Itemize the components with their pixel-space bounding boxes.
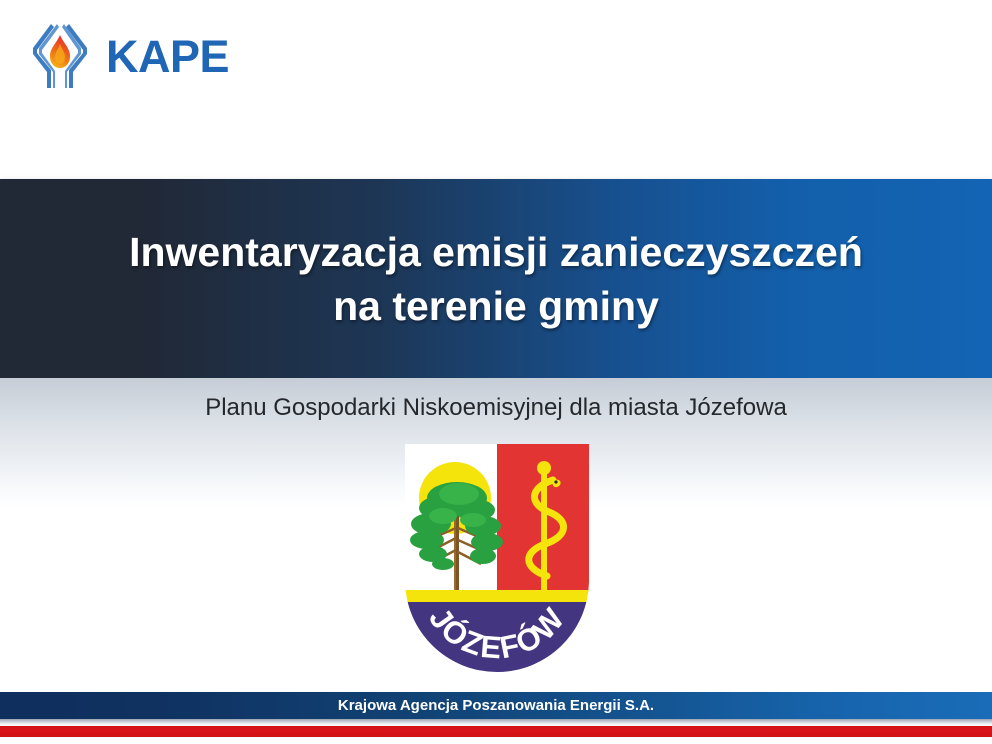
title-line-1: Inwentaryzacja emisji zanieczyszczeń	[129, 225, 863, 279]
coat-of-arms-graphic: JÓZEFÓW	[403, 442, 591, 674]
title-banner: Inwentaryzacja emisji zanieczyszczeń na …	[0, 179, 992, 378]
kape-logo: KAPE	[24, 18, 204, 94]
footer-organization-name: Krajowa Agencja Poszanowania Energii S.A…	[0, 692, 992, 719]
kape-flame-icon	[24, 18, 96, 94]
slide-header-area: KAPE	[0, 0, 992, 179]
jozefow-coat-of-arms: JÓZEFÓW	[403, 442, 591, 674]
footer-bottom-margin	[0, 737, 992, 744]
presentation-slide: KAPE Inwentaryzacja emisji zanieczyszcze…	[0, 0, 992, 744]
slide-title: Inwentaryzacja emisji zanieczyszczeń na …	[0, 179, 992, 378]
title-line-2: na terenie gminy	[333, 279, 659, 333]
slide-subtitle: Planu Gospodarki Niskoemisyjnej dla mias…	[0, 392, 992, 424]
footer-divider	[0, 719, 992, 726]
kape-wordmark: KAPE	[106, 32, 229, 82]
footer-accent-bar	[0, 726, 992, 737]
